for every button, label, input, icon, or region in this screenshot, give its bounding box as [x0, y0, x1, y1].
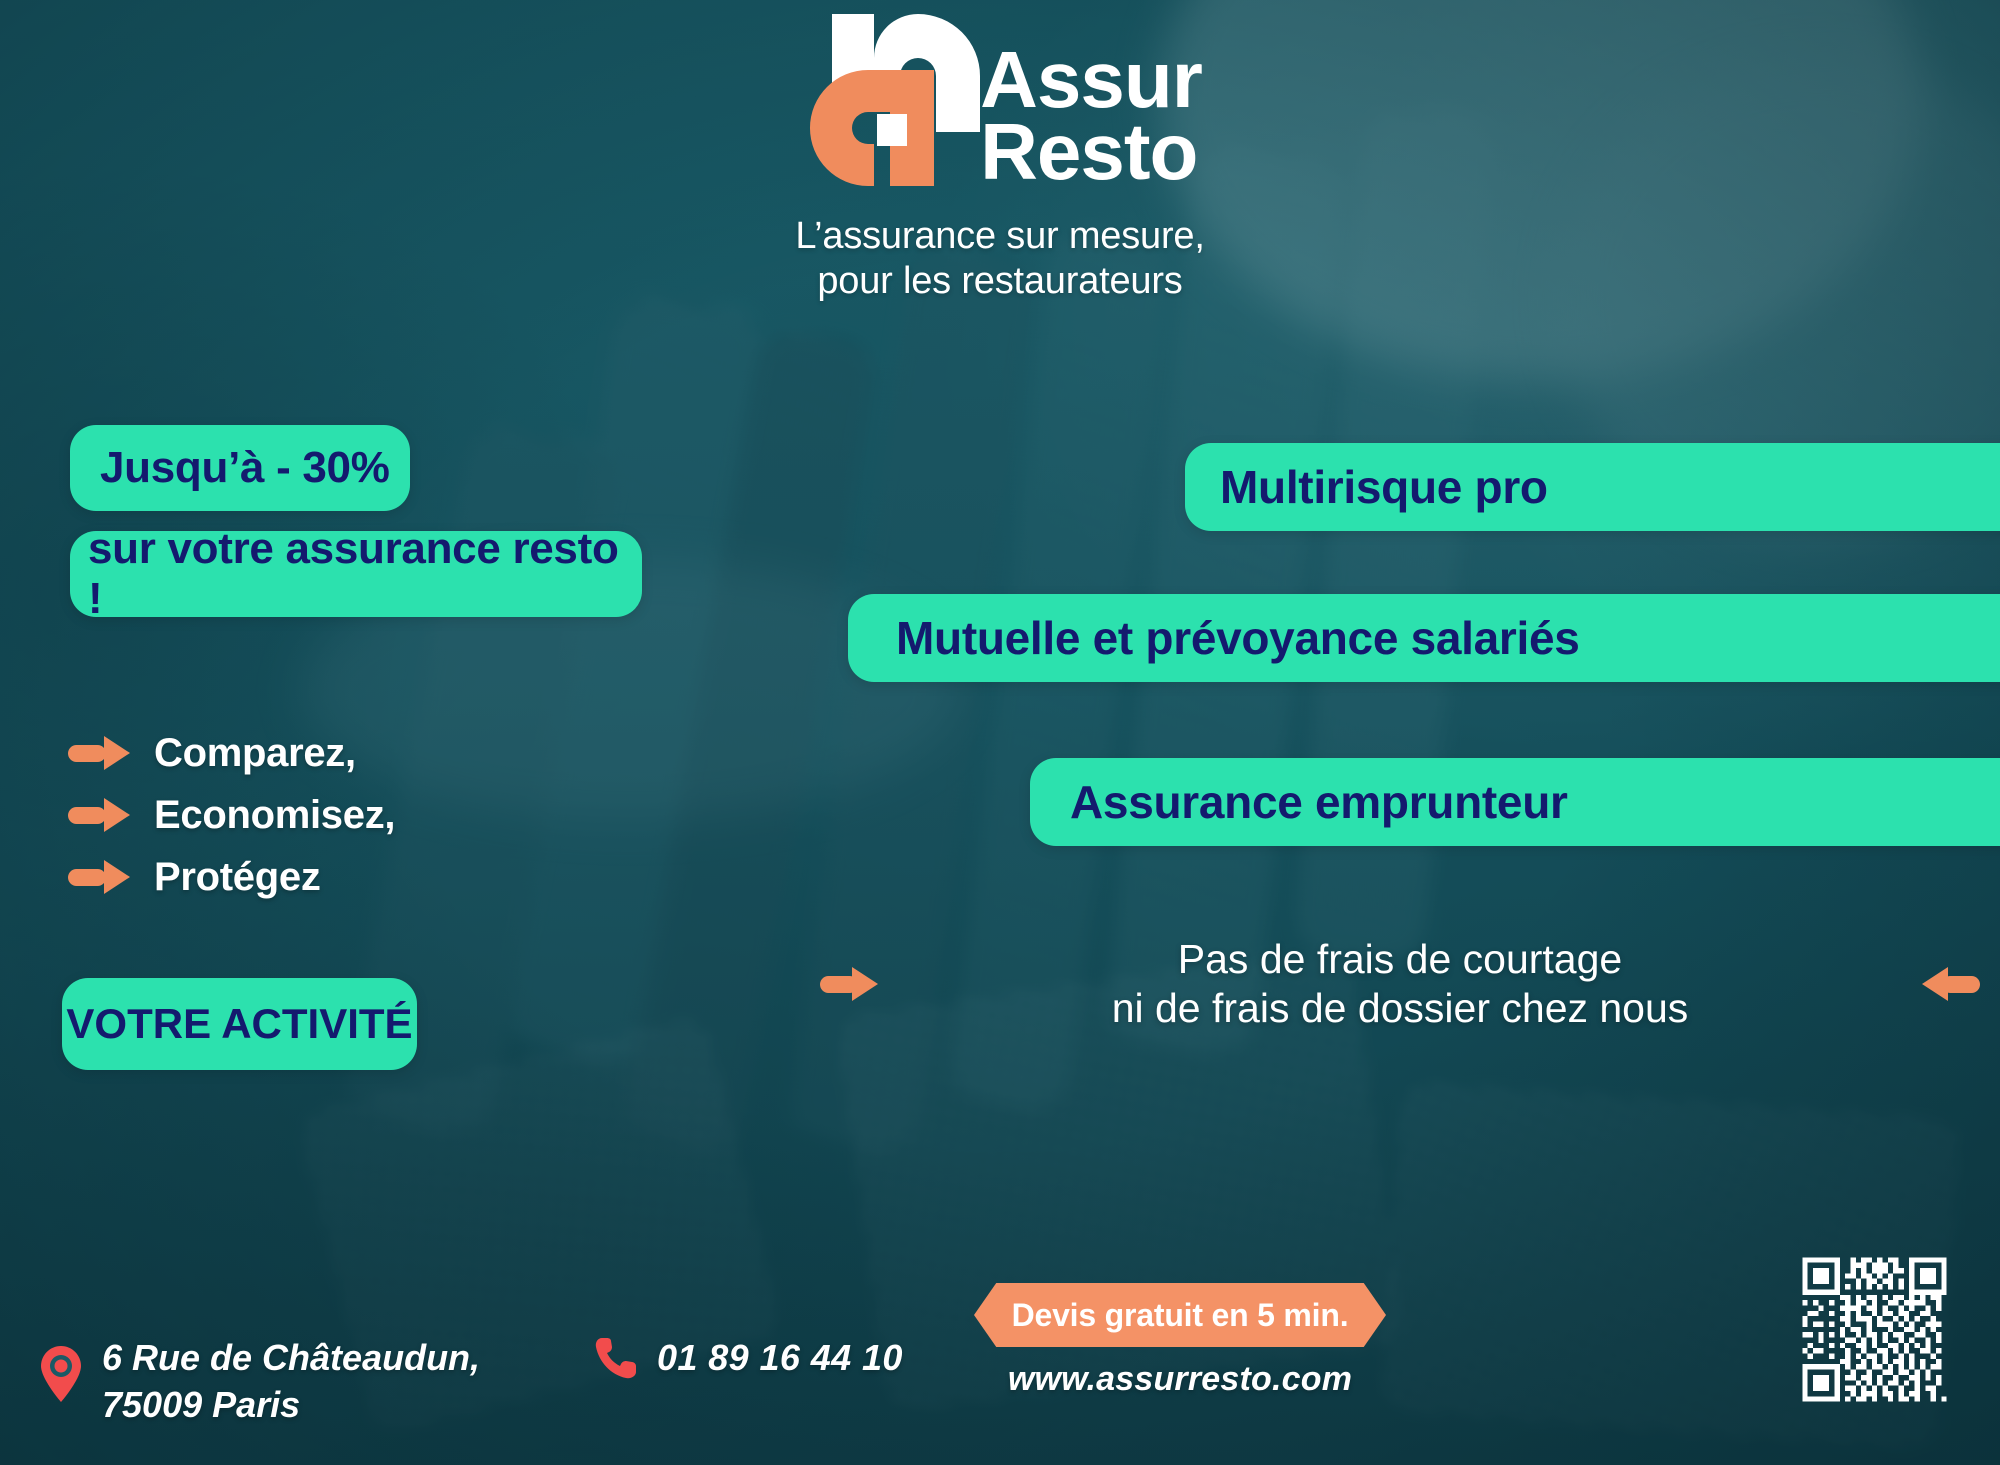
logo-word-assur: Assur	[980, 44, 1202, 116]
step-label: Economisez,	[154, 793, 395, 838]
phone-number[interactable]: 01 89 16 44 10	[657, 1337, 903, 1379]
address-block: 6 Rue de Châteaudun, 75009 Paris	[40, 1335, 480, 1429]
logo-word-resto: Resto	[980, 116, 1202, 188]
list-item: Economisez,	[68, 784, 395, 846]
website-url[interactable]: www.assurresto.com	[974, 1360, 1386, 1399]
address-line-1: 6 Rue de Châteaudun,	[102, 1335, 480, 1382]
step-label: Comparez,	[154, 731, 356, 776]
address-line-2: 75009 Paris	[102, 1382, 480, 1429]
poster-root: Assur Resto L’assurance sur mesure, pour…	[0, 0, 2000, 1465]
arrow-right-icon	[68, 860, 130, 894]
discount-badge-subject: sur votre assurance resto !	[70, 531, 642, 617]
arrow-left-icon	[1922, 967, 1980, 1001]
logo-wordmark: Assur Resto	[980, 44, 1202, 196]
steps-list: Comparez, Economisez, Protégez	[68, 722, 395, 908]
product-badge-assurance-emprunteur: Assurance emprunteur	[1030, 758, 2000, 846]
no-fees-line-1: Pas de frais de courtage	[878, 935, 1922, 984]
list-item: Protégez	[68, 846, 395, 908]
arrow-right-icon	[820, 967, 878, 1001]
list-item: Comparez,	[68, 722, 395, 784]
devis-gratuit-label: Devis gratuit en 5 min.	[1012, 1297, 1349, 1334]
address-text: 6 Rue de Châteaudun, 75009 Paris	[102, 1335, 480, 1429]
step-label: Protégez	[154, 855, 321, 900]
arrow-right-icon	[68, 736, 130, 770]
qr-code-icon[interactable]	[1797, 1252, 1952, 1407]
assur-resto-monogram-icon	[798, 8, 980, 196]
arrow-right-icon	[68, 798, 130, 832]
no-fees-line-2: ni de frais de dossier chez nous	[878, 984, 1922, 1033]
devis-gratuit-ribbon[interactable]: Devis gratuit en 5 min.	[974, 1283, 1386, 1347]
no-fees-text: Pas de frais de courtage ni de frais de …	[878, 935, 1922, 1033]
phone-icon	[595, 1336, 637, 1380]
product-badge-mutuelle-prevoyance: Mutuelle et prévoyance salariés	[848, 594, 2000, 682]
phone-block[interactable]: 01 89 16 44 10	[595, 1336, 903, 1380]
logo-row: Assur Resto	[798, 8, 1202, 196]
no-fees-callout: Pas de frais de courtage ni de frais de …	[820, 935, 1980, 1033]
tagline-line-1: L’assurance sur mesure,	[795, 214, 1204, 259]
votre-activite-button[interactable]: VOTRE ACTIVITÉ	[62, 978, 417, 1070]
map-pin-icon	[40, 1345, 82, 1403]
tagline-line-2: pour les restaurateurs	[795, 259, 1204, 304]
brand-tagline: L’assurance sur mesure, pour les restaur…	[795, 214, 1204, 304]
product-badge-multirisque-pro: Multirisque pro	[1185, 443, 2000, 531]
brand-logo-block: Assur Resto L’assurance sur mesure, pour…	[0, 8, 2000, 304]
discount-badge-amount: Jusqu’à - 30%	[70, 425, 410, 511]
